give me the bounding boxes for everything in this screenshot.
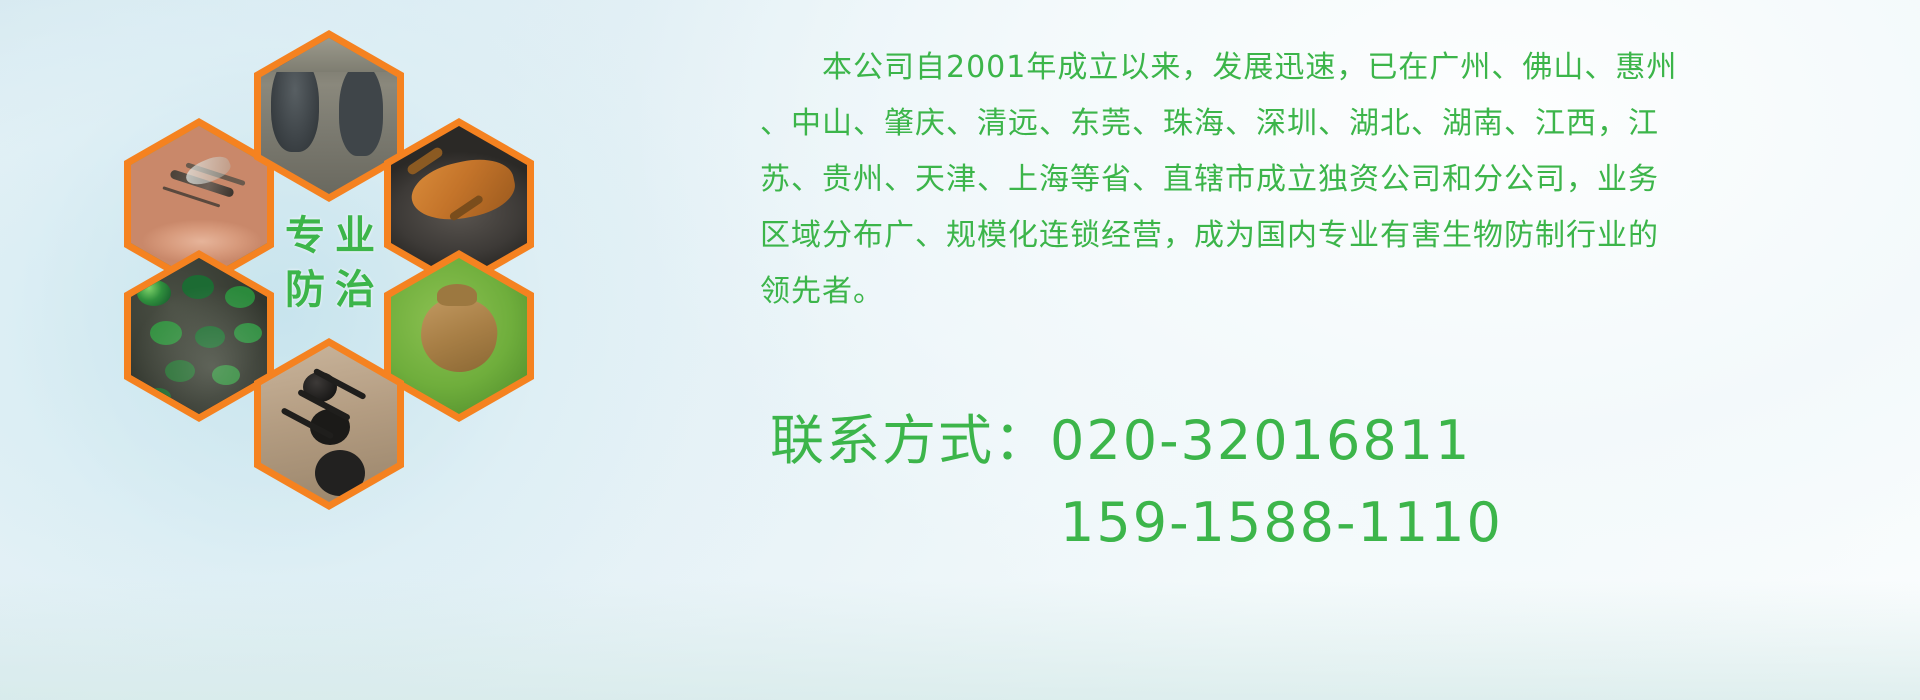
hex-inner-rats — [261, 38, 397, 194]
badge-line-2: 防治 — [275, 270, 385, 310]
hex-tile-stink-bug — [384, 250, 534, 422]
intro-line: 苏、贵州、天津、上海等省、直辖市成立独资公司和分公司，业务 — [760, 152, 1900, 208]
promo-banner: 专业 防治 本公司自2001年成立以来，发展迅速，已在广州、佛山、惠州 、中山、… — [0, 0, 1920, 700]
rats-photo — [261, 38, 397, 194]
contact-phone-primary[interactable]: 020-32016811 — [1050, 409, 1471, 472]
company-intro-block: 本公司自2001年成立以来，发展迅速，已在广州、佛山、惠州 、中山、肇庆、清远、… — [760, 40, 1900, 320]
contact-phone-secondary[interactable]: 159-1588-1110 — [1060, 491, 1503, 554]
hex-tile-flies — [124, 250, 274, 422]
badge-line-1: 专业 — [275, 216, 385, 256]
intro-line: 领先者。 — [760, 264, 1900, 320]
intro-line: 区域分布广、规模化连锁经营，成为国内专业有害生物防制行业的 — [760, 208, 1900, 264]
intro-line: 本公司自2001年成立以来，发展迅速，已在广州、佛山、惠州 — [760, 40, 1900, 96]
hex-inner-flies — [131, 258, 267, 414]
hex-center-badge: 专业 防治 — [270, 198, 390, 328]
hex-inner-stink-bug — [391, 258, 527, 414]
stink-bug-photo — [391, 258, 527, 414]
intro-line: 、中山、肇庆、清远、东莞、珠海、深圳、湖北、湖南、江西，江 — [760, 96, 1900, 152]
hex-tile-rats — [254, 30, 404, 202]
flies-photo — [131, 258, 267, 414]
contact-block: 联系方式：020-32016811 159-1588-1110 — [770, 400, 1503, 564]
hex-tile-ant — [254, 338, 404, 510]
contact-primary-line: 联系方式：020-32016811 — [770, 400, 1503, 482]
ant-photo — [261, 346, 397, 502]
contact-label: 联系方式： — [770, 409, 1050, 472]
contact-secondary-line: 159-1588-1110 — [770, 482, 1503, 564]
hex-inner-ant — [261, 346, 397, 502]
hexagon-image-cluster: 专业 防治 — [90, 8, 590, 568]
